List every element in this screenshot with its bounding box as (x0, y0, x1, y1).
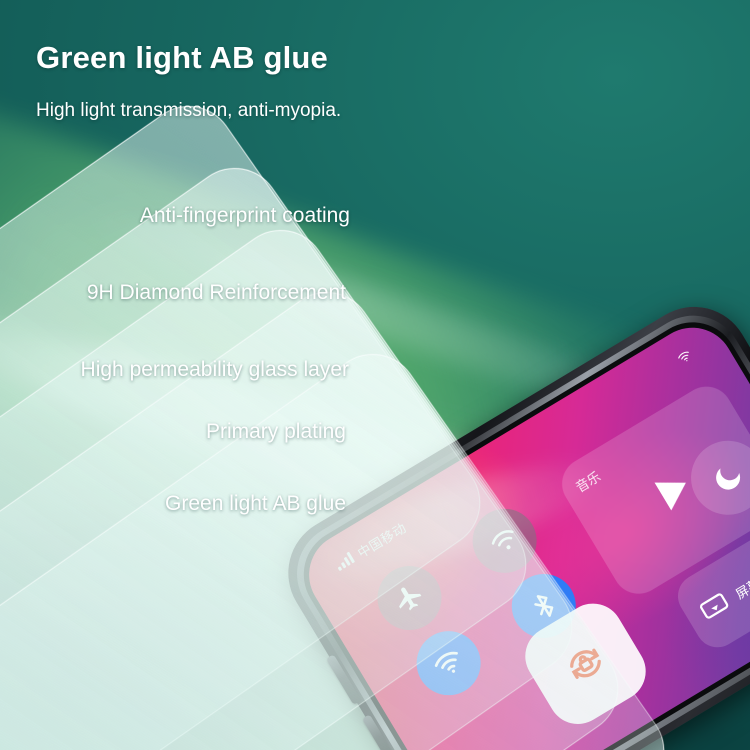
cellular-data-toggle[interactable] (460, 497, 548, 585)
screen-mirroring-icon (694, 587, 735, 628)
moon-icon (706, 456, 750, 500)
wifi-icon (674, 347, 695, 367)
airplane-icon (388, 578, 429, 619)
carrier-label: 中国移动 (353, 517, 409, 561)
product-banner: 中国移动 (0, 0, 750, 750)
signal-bars-icon (333, 552, 355, 572)
airplane-mode-toggle[interactable] (365, 554, 453, 642)
wifi-toggle[interactable] (404, 620, 492, 708)
layer-label-primary-plating: Primary plating (0, 420, 346, 444)
screen-mirroring-label: 屏幕镜像 (731, 559, 750, 602)
status-bar-right (674, 347, 695, 367)
layer-label-green-light-ab-glue: Green light AB glue (0, 492, 346, 516)
page-subtitle: High light transmission, anti-myopia. (36, 100, 341, 122)
page-title: Green light AB glue (36, 40, 328, 76)
cellular-icon (484, 521, 525, 562)
wifi-icon (428, 643, 469, 684)
layer-label-9h-diamond: 9H Diamond Reinforcement (0, 281, 346, 305)
layer-label-high-permeability: High permeability glass layer (0, 358, 349, 382)
layer-label-anti-fingerprint: Anti-fingerprint coating (0, 204, 350, 228)
rotation-lock-icon (553, 632, 616, 695)
